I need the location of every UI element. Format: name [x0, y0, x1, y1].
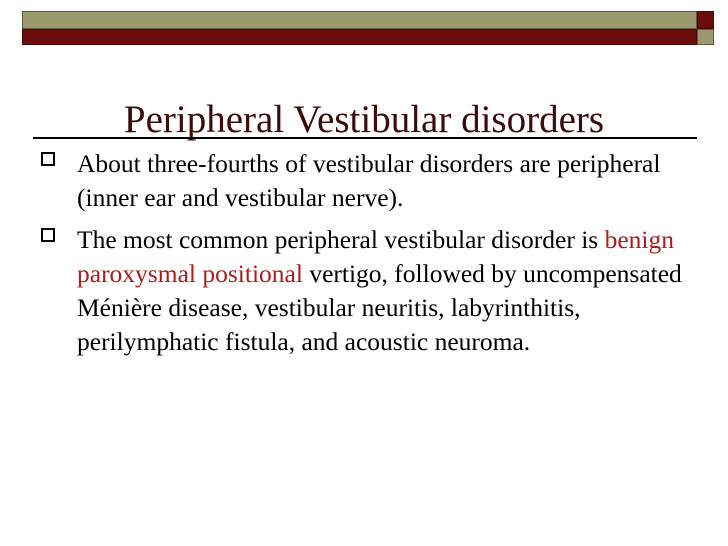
bullet-2-segment-1: The most common peripheral vestibular di… [77, 225, 605, 254]
bullet-1-segment-1: About three-fourths of vestibular disord… [77, 149, 660, 212]
list-item-text: About three-fourths of vestibular disord… [77, 147, 701, 215]
open-square-bullet-icon [41, 228, 55, 242]
list-item-text: The most common peripheral vestibular di… [77, 223, 701, 359]
header-accent-square-olive [697, 29, 714, 45]
list-item: The most common peripheral vestibular di… [33, 223, 701, 359]
list-item: About three-fourths of vestibular disord… [33, 147, 701, 215]
slide-body: About three-fourths of vestibular disord… [33, 147, 701, 367]
open-square-bullet-icon [41, 152, 55, 166]
header-accent-square-maroon [697, 11, 714, 29]
header-bar-maroon [22, 29, 697, 45]
title-divider [33, 137, 697, 139]
slide-canvas: Peripheral Vestibular disorders About th… [0, 0, 728, 546]
header-bar-olive [22, 11, 697, 29]
header-decoration [0, 0, 728, 60]
